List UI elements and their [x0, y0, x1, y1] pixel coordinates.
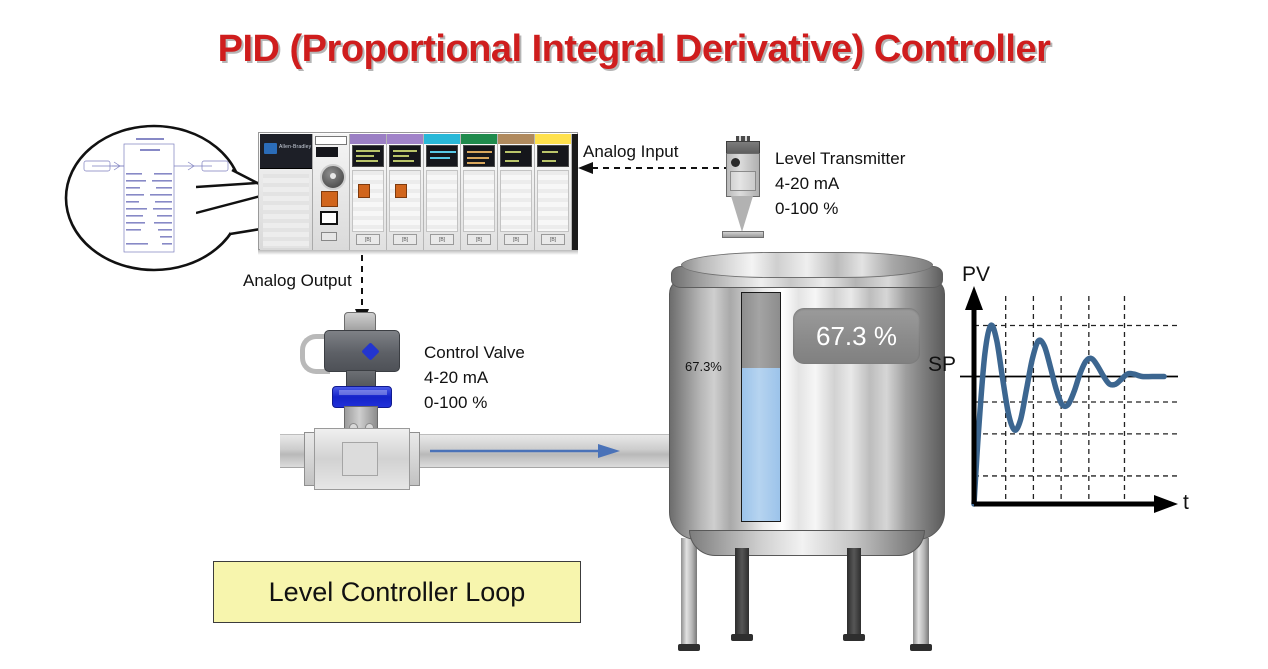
tank-leg [847, 548, 861, 636]
allen-bradley-logo-icon [264, 143, 277, 154]
process-tank: 67.3% 67.3 % [663, 248, 951, 648]
level-transmitter-range: 0-100 % [775, 196, 905, 221]
plc-module[interactable]: [B] [461, 134, 498, 250]
pid-response-chart: PV SP t [940, 272, 1200, 534]
level-controller-loop-box: Level Controller Loop [213, 561, 581, 623]
chart-y-axis-label: PV [962, 262, 990, 287]
plc-module[interactable]: [B] [498, 134, 535, 250]
plc-module[interactable]: [B] [535, 134, 572, 250]
plc-power-supply: Allen-Bradley [260, 134, 313, 250]
control-valve-range: 0-100 % [424, 390, 525, 415]
page-title: PID (Proportional Integral Derivative) C… [0, 28, 1268, 71]
control-valve[interactable] [296, 300, 426, 495]
level-gauge [741, 292, 781, 522]
plc-rack[interactable]: Allen-Bradley [B] [B] [258, 132, 578, 256]
chart-x-axis-label: t [1183, 490, 1189, 515]
plc-brand-label: Allen-Bradley [279, 144, 311, 150]
level-gauge-fill [742, 368, 780, 521]
level-value-badge: 67.3 % [793, 308, 920, 364]
level-gauge-value: 67.3% [685, 359, 722, 374]
plc-module[interactable]: [B] [387, 134, 424, 250]
plc-serial-port-icon [320, 211, 338, 225]
level-transmitter-name: Level Transmitter [775, 146, 905, 171]
plc-module[interactable]: [B] [424, 134, 461, 250]
analog-output-label: Analog Output [243, 268, 352, 293]
control-valve-name: Control Valve [424, 340, 525, 365]
control-valve-labels: Control Valve 4-20 mA 0-100 % [424, 340, 525, 415]
plc-cpu-module[interactable] [313, 134, 350, 250]
flow-direction-arrow-icon [430, 443, 620, 459]
valve-collar [332, 386, 392, 408]
plc-module[interactable]: [B] [350, 134, 387, 250]
tank-leg [913, 538, 929, 646]
level-transmitter-labels: Level Transmitter 4-20 mA 0-100 % [775, 146, 905, 221]
chart-setpoint-label: SP [928, 352, 956, 377]
analog-input-arrow [578, 160, 728, 176]
tank-leg [735, 548, 749, 636]
level-transmitter[interactable] [718, 136, 770, 254]
plc-keyswitch-icon[interactable] [320, 164, 346, 190]
transmitter-port-icon [731, 158, 740, 167]
radar-horn-icon [731, 196, 753, 232]
tank-leg [681, 538, 697, 646]
control-valve-signal: 4-20 mA [424, 365, 525, 390]
level-transmitter-signal: 4-20 mA [775, 171, 905, 196]
